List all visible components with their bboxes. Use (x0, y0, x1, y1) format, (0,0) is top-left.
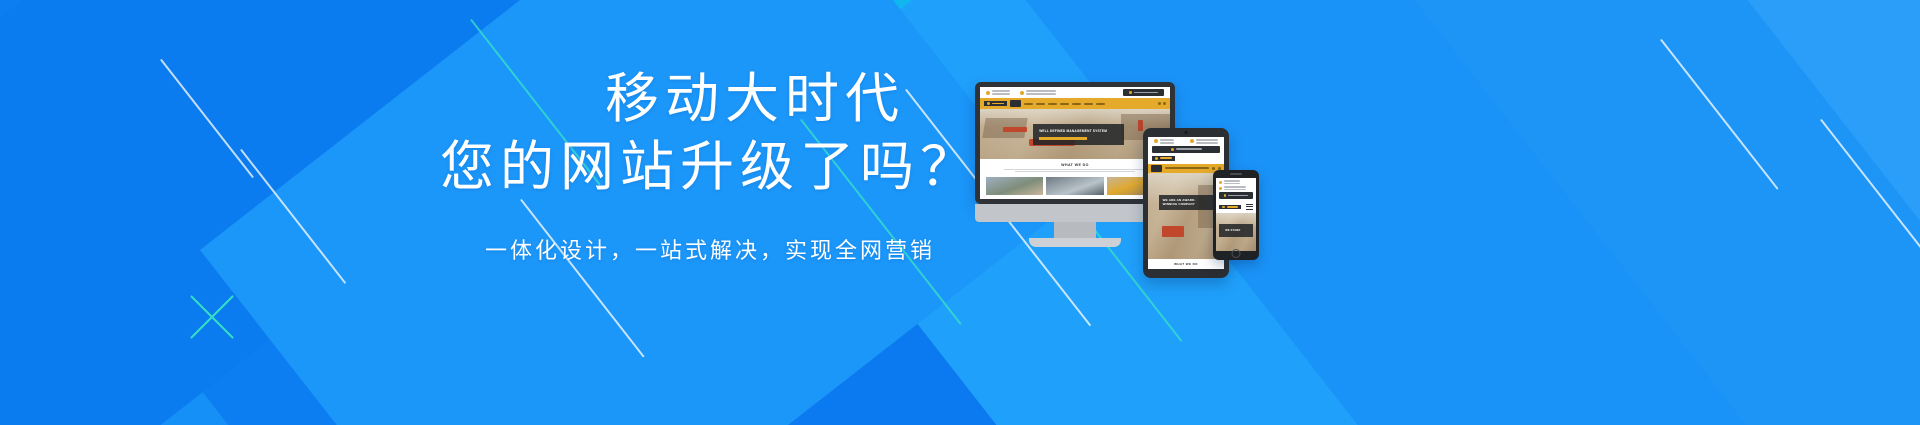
tablet-request-quote-button[interactable] (1152, 146, 1220, 153)
monitor-stand-neck (1054, 222, 1096, 238)
monitor-screen: WELL DEFINED MANAGEMENT SYSTEM WHAT WE D… (980, 87, 1170, 199)
phone-site-address-2 (1224, 189, 1246, 191)
nav-item-pages[interactable] (1060, 103, 1069, 105)
tablet-logo-mark-icon (1155, 157, 1158, 160)
site-address-2 (1026, 93, 1056, 95)
banner-headline-line2: 您的网站升级了吗？ (420, 136, 1000, 200)
phone-phone-icon (1219, 181, 1222, 184)
site-topbar (980, 87, 1170, 98)
logo-mark-icon (987, 102, 990, 105)
phone-hamburger-icon[interactable] (1246, 204, 1253, 210)
site-address-1 (1026, 90, 1056, 92)
phone-site-preview: WE STAND (1216, 178, 1256, 251)
phone-location-icon (1219, 187, 1222, 190)
phone-site-topbar (1216, 178, 1256, 201)
hero-cta-bar[interactable] (1039, 137, 1087, 140)
phone-home-button-icon[interactable] (1232, 249, 1241, 258)
hero-headline-card: WELL DEFINED MANAGEMENT SYSTEM (1033, 124, 1124, 145)
what-we-do-title: WHAT WE DO (986, 163, 1164, 167)
phone-site-hero: WE STAND (1216, 213, 1256, 251)
phone-site-phone-2 (1224, 183, 1240, 185)
phone-quote-label (1228, 195, 1248, 197)
monitor-stand-foot (1029, 238, 1121, 247)
phone-logo-mark-icon (1222, 206, 1225, 209)
nav-item-home[interactable] (1010, 100, 1021, 107)
logo-text (992, 103, 1004, 105)
tablet-what-we-do-title: WHAT WE DO (1152, 262, 1220, 266)
quote-icon (1129, 91, 1132, 94)
phone-request-quote-button[interactable] (1219, 192, 1253, 199)
phone-icon (986, 91, 990, 95)
nav-item-services[interactable] (1036, 103, 1045, 105)
quote-label (1134, 92, 1158, 94)
site-what-we-do-section: WHAT WE DO (980, 159, 1170, 177)
phone-hero-headline-text: WE STAND (1225, 229, 1247, 233)
phone-logo-text (1227, 206, 1238, 208)
tablet-site-phone-2 (1160, 142, 1174, 144)
tablet-search-icon[interactable] (1212, 167, 1215, 170)
cross-motif-icon (182, 288, 242, 348)
phone-hero-headline-card: WE STAND (1219, 224, 1253, 238)
nav-item-blog[interactable] (1084, 103, 1093, 105)
tablet-nav-rest[interactable] (1165, 167, 1209, 169)
site-request-quote-button[interactable] (1123, 89, 1164, 96)
phone-site-contact (1219, 180, 1253, 190)
search-icon[interactable] (1158, 102, 1161, 105)
tablet-location-icon (1190, 139, 1194, 143)
smartphone-mockup: WE STAND (1213, 170, 1259, 260)
tablet-hero-headline-text: WE ARE AN AWARD-WINNING COMPANY (1163, 198, 1210, 207)
site-contact-info (986, 90, 1056, 95)
hero-excavator-arm (1138, 120, 1144, 131)
banner-copy: 移动大时代 您的网站升级了吗？ 一体化设计，一站式解决，实现全网营销 (420, 68, 1000, 265)
tablet-phone-icon (1154, 139, 1158, 143)
phone-quote-icon (1224, 194, 1227, 197)
site-phone-2 (992, 93, 1010, 95)
desktop-site-preview: WELL DEFINED MANAGEMENT SYSTEM WHAT WE D… (980, 87, 1170, 199)
tablet-hero-headline-card: WE ARE AN AWARD-WINNING COMPANY (1159, 195, 1214, 210)
phone-screen: WE STAND (1216, 178, 1256, 251)
thumbnail-road[interactable] (986, 177, 1043, 195)
promo-banner: 移动大时代 您的网站升级了吗？ 一体化设计，一站式解决，实现全网营销 (0, 0, 1920, 425)
tablet-site-address-1 (1196, 139, 1218, 141)
banner-subline: 一体化设计，一站式解决，实现全网营销 (420, 233, 1000, 265)
nav-item-projects[interactable] (1048, 103, 1057, 105)
tablet-site-phone-1 (1160, 139, 1174, 141)
tablet-site-address-2 (1196, 142, 1218, 144)
tablet-nav-item-home[interactable] (1151, 165, 1162, 172)
banner-headline-line1: 移动大时代 (510, 68, 1000, 132)
tablet-what-we-do-section: WHAT WE DO (1148, 259, 1224, 269)
tablet-site-topbar (1148, 137, 1224, 146)
nav-item-contact[interactable] (1096, 103, 1105, 105)
nav-item-about[interactable] (1024, 103, 1033, 105)
phone-site-phone-1 (1224, 180, 1240, 182)
site-navbar (980, 98, 1170, 109)
phone-site-logo[interactable] (1219, 205, 1241, 210)
device-mockups: WELL DEFINED MANAGEMENT SYSTEM WHAT WE D… (955, 70, 1595, 330)
tablet-site-logo[interactable] (1152, 156, 1175, 161)
phone-speaker-icon (1230, 173, 1242, 175)
tablet-site-navbar (1148, 164, 1224, 173)
tablet-camera-icon (1185, 131, 1188, 134)
cart-icon[interactable] (1163, 102, 1166, 105)
site-thumbnail-row (980, 177, 1170, 199)
nav-item-portfolio[interactable] (1072, 103, 1081, 105)
hero-headline-text: WELL DEFINED MANAGEMENT SYSTEM (1039, 129, 1118, 134)
tablet-quote-label (1176, 148, 1202, 150)
thumbnail-tunnel[interactable] (1046, 177, 1103, 195)
tablet-logo-text (1160, 157, 1172, 159)
phone-site-address-1 (1224, 186, 1246, 188)
tablet-quote-icon (1171, 148, 1174, 151)
site-logo[interactable] (984, 101, 1007, 106)
location-icon (1020, 91, 1024, 95)
hero-truck (1003, 127, 1028, 132)
site-phone-1 (992, 90, 1010, 92)
tablet-hero-machine (1162, 226, 1185, 236)
what-we-do-paragraph (1004, 169, 1146, 172)
site-hero: WELL DEFINED MANAGEMENT SYSTEM (980, 109, 1170, 159)
